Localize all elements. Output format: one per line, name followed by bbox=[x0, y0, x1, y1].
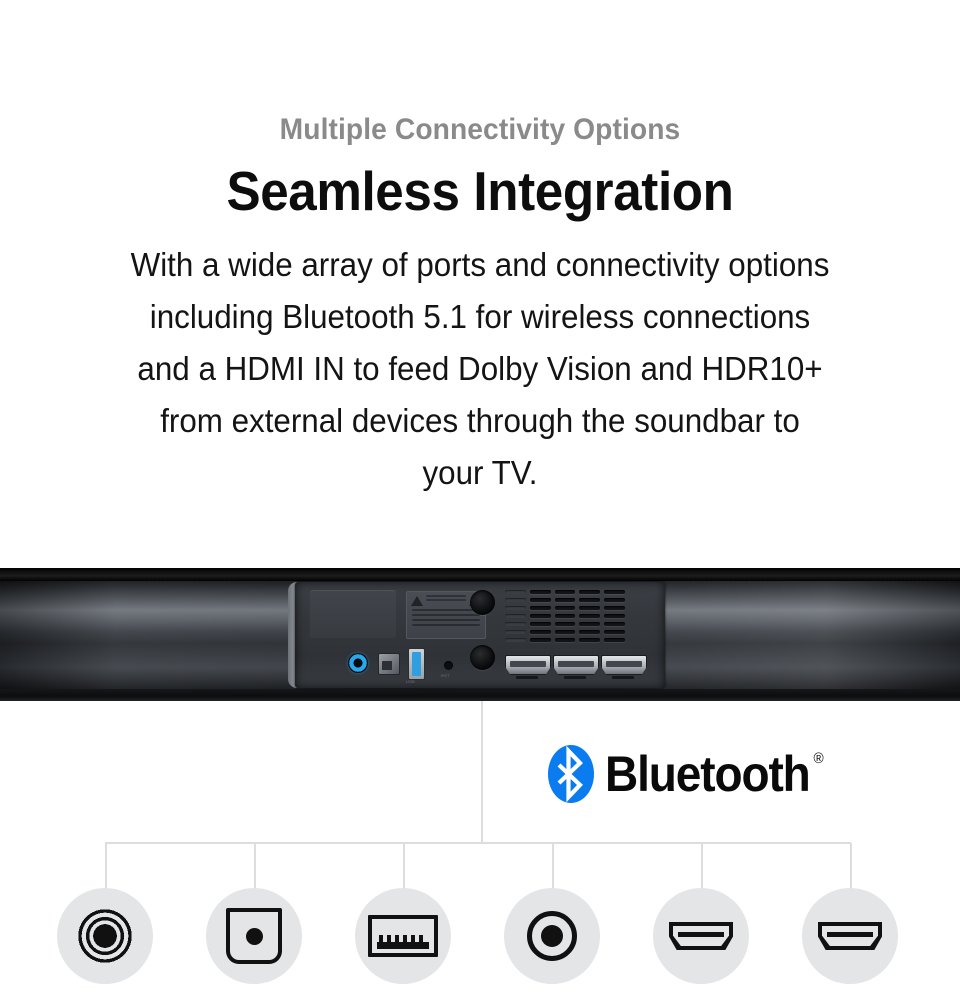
connector-line-drop bbox=[254, 843, 256, 891]
coaxial-digital-icon bbox=[78, 909, 132, 963]
caution-label-heading bbox=[426, 595, 466, 604]
warning-triangle-icon bbox=[411, 596, 423, 606]
connectivity-icon-aux[interactable] bbox=[504, 888, 600, 984]
connectivity-feature-page: Multiple Connectivity Options Seamless I… bbox=[0, 0, 960, 1000]
vent-column bbox=[505, 590, 526, 645]
bluetooth-wordmark-text: Bluetooth bbox=[605, 746, 810, 802]
hero-text-block: Multiple Connectivity Options Seamless I… bbox=[0, 0, 960, 499]
soundbar-grille bbox=[0, 568, 960, 581]
vent-column bbox=[604, 590, 625, 645]
page-title: Seamless Integration bbox=[34, 148, 927, 221]
mount-hole bbox=[470, 645, 495, 670]
hdmi-in-icon bbox=[669, 922, 733, 950]
usb-port bbox=[408, 648, 425, 680]
connector-line-vertical-main bbox=[481, 701, 483, 843]
hdmi-port-notch bbox=[612, 676, 634, 679]
soundbar-base bbox=[0, 689, 960, 701]
mount-hole bbox=[470, 590, 495, 615]
port-panel-blank-plate bbox=[310, 590, 396, 638]
connector-line-drop bbox=[105, 843, 107, 891]
connectivity-icon-coaxial[interactable] bbox=[57, 888, 153, 984]
bluetooth-logo: Bluetooth ® bbox=[548, 745, 827, 803]
hero-description: With a wide array of ports and connectiv… bbox=[129, 221, 832, 499]
bluetooth-icon bbox=[548, 745, 594, 803]
hdmi-port bbox=[505, 655, 551, 675]
ventilation-grille bbox=[505, 590, 625, 645]
connector-line-horizontal-bus bbox=[105, 842, 851, 844]
hdmi-out-icon bbox=[818, 922, 882, 950]
vent-column bbox=[530, 590, 551, 645]
connector-line-drop bbox=[403, 843, 405, 891]
hdmi-port-notch bbox=[516, 676, 538, 679]
usb-icon bbox=[368, 915, 438, 957]
service-square-port bbox=[378, 653, 400, 675]
hdmi-port bbox=[601, 655, 647, 675]
hero-eyebrow: Multiple Connectivity Options bbox=[29, 0, 931, 148]
aux-jack-icon bbox=[527, 911, 577, 961]
connector-line-drop bbox=[701, 843, 703, 891]
vent-column bbox=[555, 590, 576, 645]
caution-label-text bbox=[412, 609, 480, 629]
vent-column bbox=[579, 590, 600, 645]
connectivity-icon-hdmi-out[interactable] bbox=[802, 888, 898, 984]
connectivity-icon-usb[interactable] bbox=[355, 888, 451, 984]
hdmi-port-notch bbox=[564, 676, 586, 679]
hdmi-port bbox=[553, 655, 599, 675]
connectivity-icon-row bbox=[0, 888, 960, 992]
connector-line-drop bbox=[552, 843, 554, 891]
optical-port bbox=[348, 653, 368, 673]
usb-port-label: USB bbox=[406, 679, 415, 684]
connectivity-icon-hdmi-in[interactable] bbox=[653, 888, 749, 984]
bluetooth-wordmark: Bluetooth ® bbox=[605, 749, 810, 799]
optical-toslink-icon bbox=[226, 908, 282, 964]
reset-label: RST bbox=[441, 673, 450, 678]
connector-line-drop bbox=[850, 843, 852, 891]
connectivity-icon-optical[interactable] bbox=[206, 888, 302, 984]
reset-pinhole bbox=[444, 661, 453, 670]
registered-trademark-symbol: ® bbox=[813, 751, 822, 766]
